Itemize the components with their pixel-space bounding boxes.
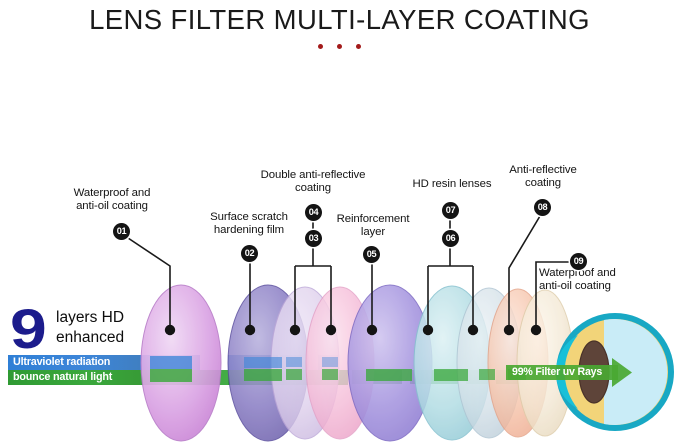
uv-overlay-2 [244,357,282,368]
anchor-dot-08 [504,325,514,335]
uv-overlay-4 [322,357,338,367]
badge-07[interactable]: 07 [442,202,459,219]
light-overlay-3 [286,369,302,380]
beam-legend: Ultraviolet radiation bounce natural lig… [8,355,140,385]
light-overlay-1 [150,369,192,382]
badge-08[interactable]: 08 [534,199,551,216]
light-overlay-6 [434,369,468,381]
anchor-dot-06b [468,325,478,335]
anchor-dot-06a [423,325,433,335]
light-overlay-7 [479,369,495,380]
uv-overlay-1 [150,356,192,369]
uv-radiation-label: Ultraviolet radiation [13,355,110,370]
callout-label-09: Waterproof and anti-oil coating [539,267,675,293]
light-overlay-2 [244,369,282,381]
anchor-dot-02 [245,325,255,335]
anchor-dot-09 [531,325,541,335]
natural-light-bar: bounce natural light [8,370,140,385]
badge-02[interactable]: 02 [241,245,258,262]
diagram-canvas: LENS FILTER MULTI-LAYER COATING [0,0,679,444]
callout-label-08: Anti-reflective coating [495,164,591,190]
badge-01[interactable]: 01 [113,223,130,240]
nine-layers-label: layers HD enhanced [56,308,124,347]
anchor-dot-01 [165,325,175,335]
callout-label-04: Double anti-reflective coating [240,169,386,195]
anchor-dot-03a [290,325,300,335]
badge-09[interactable]: 09 [570,253,587,270]
uv-overlay-3 [286,357,302,367]
natural-light-label: bounce natural light [13,370,112,385]
light-overlay-5 [366,369,412,381]
uv-filter-label: 99% Filter uv Rays [512,365,602,379]
anchor-dot-03b [326,325,336,335]
callout-label-02: Surface scratch hardening film [185,211,313,237]
callout-label-05: Reinforcement layer [320,213,426,239]
callout-label-07: HD resin lenses [404,178,500,191]
nine-glyph: 9 [10,306,52,352]
badge-03[interactable]: 03 [305,230,322,247]
light-overlay-4 [322,369,338,380]
anchor-dot-05 [367,325,377,335]
uv-radiation-bar: Ultraviolet radiation [8,355,140,370]
nine-layers-block: 9 layers HD enhanced [10,306,146,354]
callout-label-01: Waterproof and anti-oil coating [48,187,176,213]
badge-04[interactable]: 04 [305,204,322,221]
badge-05[interactable]: 05 [363,246,380,263]
badge-06[interactable]: 06 [442,230,459,247]
